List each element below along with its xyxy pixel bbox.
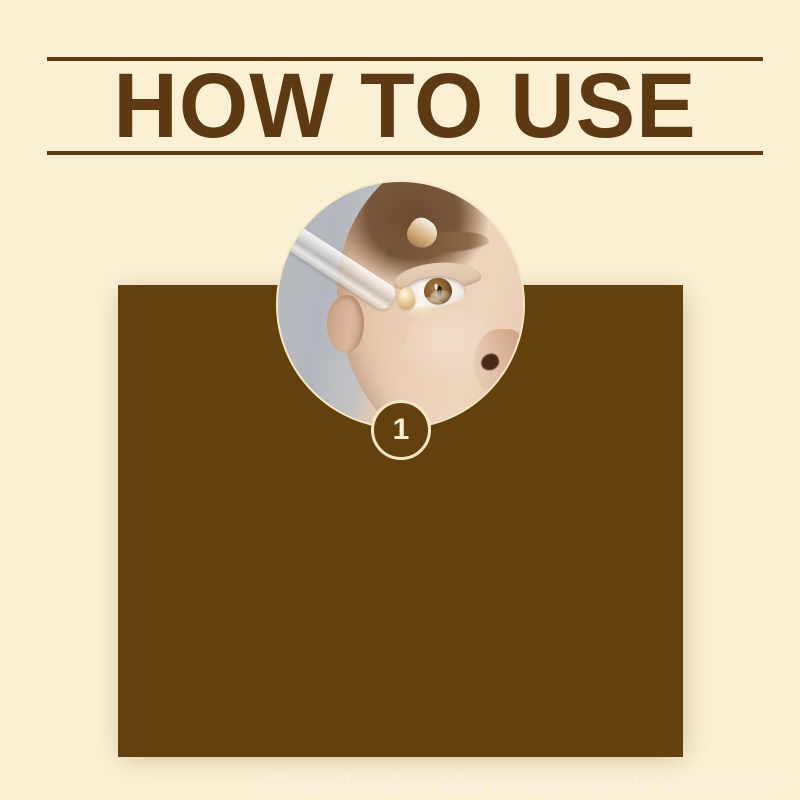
step-description: Clean the skin, take an appropriate amou… <box>258 763 779 800</box>
photo-composition <box>278 182 523 427</box>
cheek-highlight <box>405 309 493 383</box>
header: HOW TO USE <box>47 57 763 155</box>
how-to-use-poster: HOW TO USE Clean the skin, take an appro… <box>0 0 800 800</box>
step-number-label: 1 <box>393 415 410 445</box>
eye-glint <box>435 284 438 290</box>
header-bottom-rule <box>47 151 763 155</box>
serum-droplet-icon <box>398 287 415 309</box>
step-number-badge: 1 <box>371 400 431 460</box>
step-photo <box>276 180 525 429</box>
ear-shape <box>327 295 364 354</box>
page-title: HOW TO USE <box>58 57 753 155</box>
